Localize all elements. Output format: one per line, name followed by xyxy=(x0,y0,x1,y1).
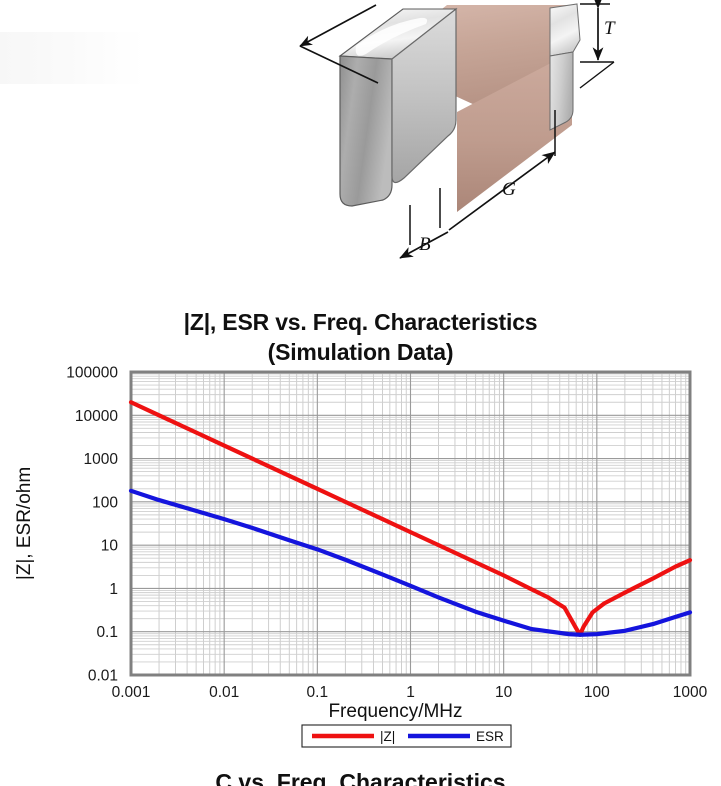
y-axis-tick-labels: 1000001000010001001010.10.01 xyxy=(66,365,118,685)
dimension-label-T: T xyxy=(604,18,616,39)
plot-area-wrapper: 0.0010.010.11101001000 10000010000100010… xyxy=(0,300,721,760)
chart-legend: |Z|ESR xyxy=(302,725,511,747)
x-tick-label: 1 xyxy=(406,684,415,701)
next-section-heading-text: C vs. Freq. Characteristics xyxy=(0,768,721,786)
x-axis-title: Frequency/MHz xyxy=(328,701,462,722)
dimension-arrow-bandwidth: B xyxy=(400,188,448,258)
y-tick-label: 100 xyxy=(92,494,118,511)
x-tick-label: 0.01 xyxy=(209,684,239,701)
x-tick-label: 0.1 xyxy=(307,684,329,701)
next-section-heading: C vs. Freq. Characteristics xyxy=(0,768,721,786)
dimension-label-G: G xyxy=(502,179,516,200)
capacitor-figure: T G B xyxy=(280,0,660,262)
impedance-plot: 0.0010.010.11101001000 10000010000100010… xyxy=(0,300,721,760)
background-grey-block xyxy=(0,32,146,84)
y-tick-label: 10 xyxy=(101,538,119,555)
y-tick-label: 1000 xyxy=(84,451,119,468)
legend-label: ESR xyxy=(476,729,504,744)
x-tick-label: 1000 xyxy=(673,684,708,701)
y-tick-label: 0.01 xyxy=(88,668,118,685)
legend-label: |Z| xyxy=(380,729,395,744)
y-axis-title: |Z|, ESR/ohm xyxy=(14,467,35,580)
y-tick-label: 1 xyxy=(109,581,118,598)
x-tick-label: 100 xyxy=(584,684,610,701)
dimension-arrow-thickness: T xyxy=(580,4,616,88)
capacitor-left-terminal xyxy=(340,9,456,206)
y-tick-label: 0.1 xyxy=(96,624,118,641)
y-tick-label: 100000 xyxy=(66,365,118,382)
impedance-chart-panel: |Z|, ESR vs. Freq. Characteristics (Simu… xyxy=(0,300,721,760)
x-axis-tick-labels: 0.0010.010.11101001000 xyxy=(112,684,708,701)
x-tick-label: 10 xyxy=(495,684,513,701)
x-tick-label: 0.001 xyxy=(112,684,151,701)
dimension-label-B: B xyxy=(419,234,431,255)
y-tick-label: 10000 xyxy=(75,408,118,425)
